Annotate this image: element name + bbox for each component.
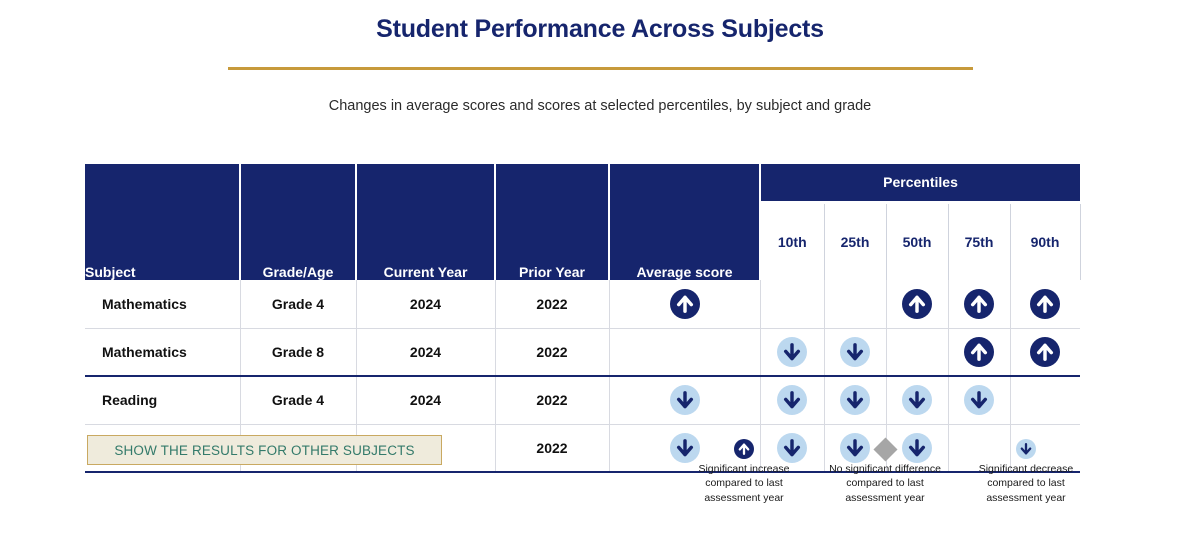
legend-text-line1: Significant increase <box>680 462 808 476</box>
cell-prior-year: 2022 <box>495 328 609 376</box>
cell-grade-age: Grade 4 <box>240 280 356 328</box>
show-other-subjects-label: SHOW THE RESULTS FOR OTHER SUBJECTS <box>114 443 414 458</box>
legend-icon <box>962 438 1090 460</box>
table-row: ReadingGrade 420242022 <box>85 376 1080 424</box>
arrow-up-circle-icon <box>670 289 700 319</box>
cell-subject: Mathematics <box>85 280 240 328</box>
header-spacer-current-year <box>356 164 495 202</box>
legend-text-line1: Significant decrease <box>962 462 1090 476</box>
arrow-up-circle-icon <box>1030 289 1060 319</box>
arrow-down-circle-icon <box>777 337 807 367</box>
header-current-year: Current Year <box>356 202 495 280</box>
header-percentile-50th: 50th <box>886 202 948 280</box>
cell-percentile-25th <box>824 376 886 424</box>
arrow-down-circle-icon <box>902 385 932 415</box>
cell-percentile-90th <box>1010 328 1080 376</box>
arrow-down-circle-icon <box>964 385 994 415</box>
diamond-icon <box>873 437 897 461</box>
header-row-columns: Subject Grade/Age Current Year Prior Yea… <box>85 202 1080 280</box>
header-average-score: Average score <box>609 202 760 280</box>
cell-percentile-25th <box>824 280 886 328</box>
legend-text-line3: assessment year <box>821 491 949 505</box>
cell-prior-year: 2022 <box>495 424 609 472</box>
arrow-down-circle-icon <box>840 337 870 367</box>
legend-text-line2: compared to last <box>962 476 1090 490</box>
legend: Significant increasecompared to lastasse… <box>680 438 1090 505</box>
table-row: MathematicsGrade 820242022 <box>85 328 1080 376</box>
arrow-down-circle-icon <box>777 385 807 415</box>
arrow-down-circle-icon <box>840 385 870 415</box>
cell-current-year: 2024 <box>356 376 495 424</box>
legend-item: No significant differencecompared to las… <box>821 438 949 505</box>
legend-text-line3: assessment year <box>962 491 1090 505</box>
header-grade-age: Grade/Age <box>240 202 356 280</box>
cell-grade-age: Grade 4 <box>240 376 356 424</box>
arrow-down-circle-icon <box>670 385 700 415</box>
legend-text-line2: compared to last <box>821 476 949 490</box>
legend-text-line2: compared to last <box>680 476 808 490</box>
header-spacer-average-score <box>609 164 760 202</box>
legend-item: Significant increasecompared to lastasse… <box>680 438 808 505</box>
cell-current-year: 2024 <box>356 280 495 328</box>
header-percentile-25th: 25th <box>824 202 886 280</box>
arrow-up-circle-icon <box>964 289 994 319</box>
header-percentile-75th: 75th <box>948 202 1010 280</box>
arrow-up-circle-icon <box>1030 337 1060 367</box>
header-percentile-90th: 90th <box>1010 202 1080 280</box>
cell-prior-year: 2022 <box>495 280 609 328</box>
cell-percentile-50th <box>886 280 948 328</box>
cell-percentile-10th <box>760 376 824 424</box>
cell-percentile-50th <box>886 376 948 424</box>
legend-icon <box>821 438 949 460</box>
legend-icon <box>680 438 808 460</box>
cell-percentile-10th <box>760 280 824 328</box>
cell-current-year: 2024 <box>356 328 495 376</box>
header-spacer-subject <box>85 164 240 202</box>
header-row-group: Percentiles <box>85 164 1080 202</box>
performance-table: Percentiles Subject Grade/Age Current Ye… <box>85 164 1081 473</box>
legend-text-line3: assessment year <box>680 491 808 505</box>
cell-average-score <box>609 280 760 328</box>
cell-average-score <box>609 376 760 424</box>
header-percentiles-group: Percentiles <box>760 164 1080 202</box>
table-head: Percentiles Subject Grade/Age Current Ye… <box>85 164 1080 280</box>
performance-table-container: Percentiles Subject Grade/Age Current Ye… <box>85 164 1080 473</box>
header-subject: Subject <box>85 202 240 280</box>
arrow-up-circle-icon <box>964 337 994 367</box>
page-title: Student Performance Across Subjects <box>0 14 1200 45</box>
arrow-down-circle-icon <box>1016 439 1036 459</box>
header-percentile-10th: 10th <box>760 202 824 280</box>
cell-percentile-25th <box>824 328 886 376</box>
header-spacer-grade <box>240 164 356 202</box>
page-subtitle: Changes in average scores and scores at … <box>0 97 1200 116</box>
cell-percentile-50th <box>886 328 948 376</box>
cell-grade-age: Grade 8 <box>240 328 356 376</box>
table-row: MathematicsGrade 420242022 <box>85 280 1080 328</box>
cell-average-score <box>609 328 760 376</box>
show-other-subjects-button[interactable]: SHOW THE RESULTS FOR OTHER SUBJECTS <box>87 435 442 465</box>
header-spacer-prior-year <box>495 164 609 202</box>
header-prior-year: Prior Year <box>495 202 609 280</box>
cell-subject: Mathematics <box>85 328 240 376</box>
gold-divider <box>228 67 973 70</box>
cell-percentile-90th <box>1010 376 1080 424</box>
arrow-up-circle-icon <box>734 439 754 459</box>
legend-text-line1: No significant difference <box>821 462 949 476</box>
legend-item: Significant decreasecompared to lastasse… <box>962 438 1090 505</box>
cell-percentile-90th <box>1010 280 1080 328</box>
cell-percentile-75th <box>948 376 1010 424</box>
cell-percentile-75th <box>948 280 1010 328</box>
cell-percentile-75th <box>948 328 1010 376</box>
cell-subject: Reading <box>85 376 240 424</box>
arrow-up-circle-icon <box>902 289 932 319</box>
cell-percentile-10th <box>760 328 824 376</box>
cell-prior-year: 2022 <box>495 376 609 424</box>
